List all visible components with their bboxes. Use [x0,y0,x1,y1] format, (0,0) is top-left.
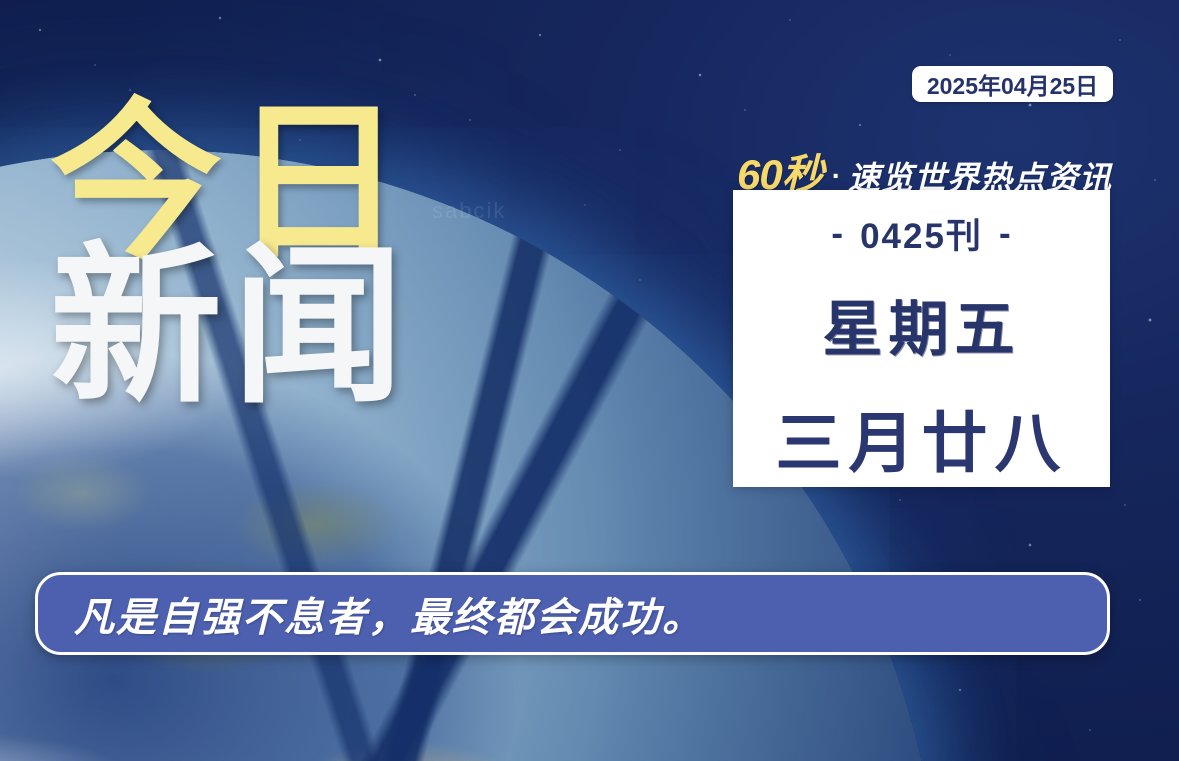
issue-row: - 0425刊 - [831,208,1011,259]
watermark-text: sabcik [432,198,506,224]
issue-dash-right: - [999,216,1012,251]
title-line-2: 新闻 [50,248,414,406]
lunar-date-label: 三月廿八 [776,390,1068,486]
quote-bar: 凡是自强不息者，最终都会成功。 [35,572,1110,655]
quote-text: 凡是自强不息者，最终都会成功。 [74,585,704,643]
issue-dash-left: - [831,216,844,251]
news-poster: sabcik 2025年04月25日 60秒 · 速览世界热点资讯 今日 新闻 … [0,0,1179,761]
weekday-label: 星期五 [823,281,1021,368]
issue-number: 0425刊 [860,208,983,259]
date-badge: 2025年04月25日 [912,66,1113,102]
poster-title: 今日 新闻 [50,104,414,406]
date-info-card: - 0425刊 - 星期五 三月廿八 [733,190,1110,487]
tagline-separator: · [832,160,841,192]
